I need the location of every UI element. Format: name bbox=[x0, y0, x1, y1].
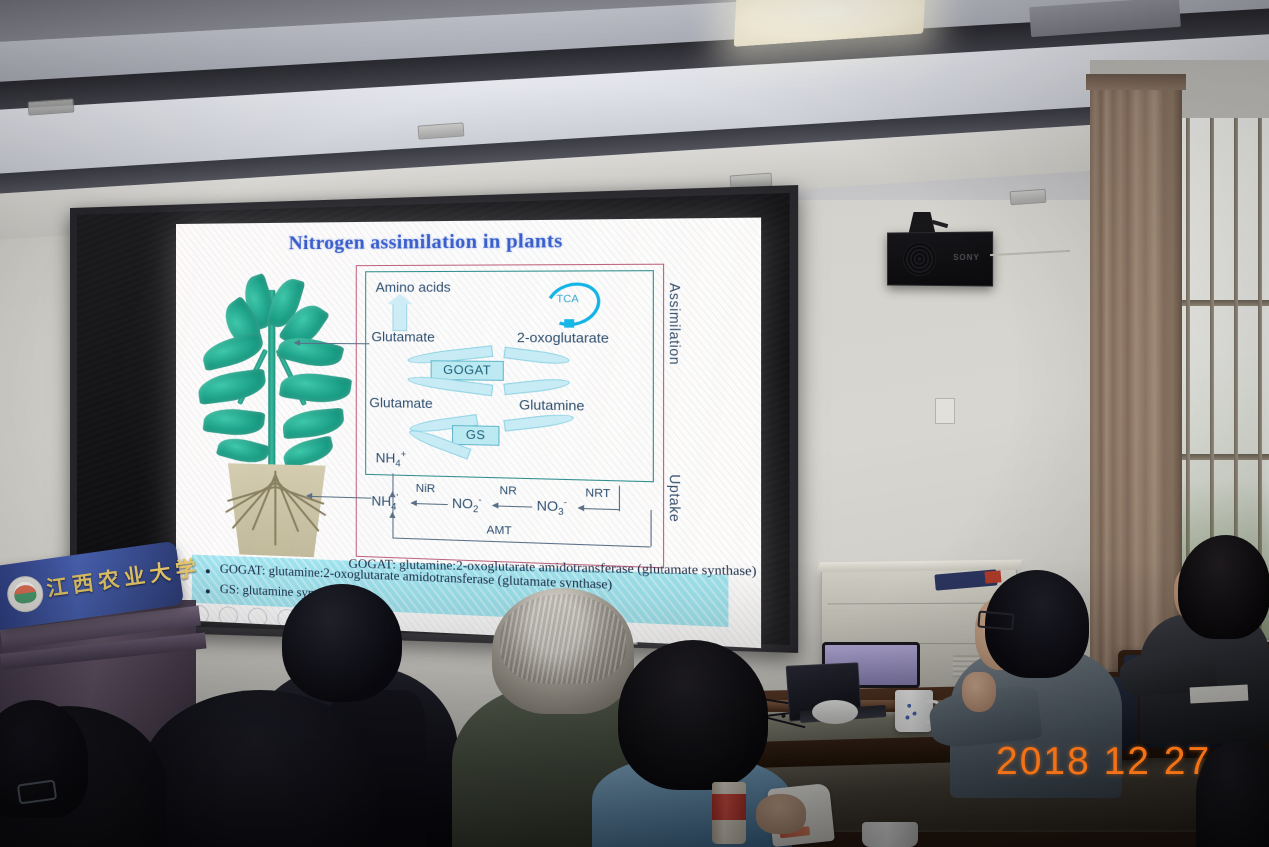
audience-grey-hair-head bbox=[492, 588, 634, 714]
attendee-grey-sweater-hand bbox=[962, 672, 996, 712]
speaker-cone-icon bbox=[903, 242, 936, 276]
projection-color-tint bbox=[176, 218, 761, 649]
podium-banner-text: 江西农业大学 bbox=[45, 552, 204, 603]
eyeglasses-icon bbox=[977, 610, 1014, 630]
audience-black-jacket-head bbox=[282, 584, 402, 702]
curtain-rod bbox=[1086, 74, 1186, 90]
attendee-puffer-jacket-head bbox=[1178, 535, 1269, 639]
slide-canvas: Nitrogen assimilation in plants bbox=[176, 218, 761, 649]
audience-blue-top-hand bbox=[756, 794, 806, 834]
projected-slide: Nitrogen assimilation in plants bbox=[176, 218, 761, 649]
laptop-stand bbox=[812, 700, 858, 724]
camera-date-stamp: 2018 12 27 bbox=[996, 740, 1211, 784]
cup-foreground bbox=[862, 822, 918, 847]
cup-band bbox=[712, 794, 746, 820]
hair-texture bbox=[500, 594, 626, 684]
curtain bbox=[1090, 78, 1182, 688]
paper-on-table bbox=[1190, 684, 1249, 703]
wall-outlet-plate bbox=[935, 398, 955, 424]
porcelain-mug bbox=[895, 690, 933, 732]
ceiling-vent-icon bbox=[1010, 189, 1047, 205]
wall-speaker: SONY bbox=[887, 231, 993, 286]
speaker-brand-label: SONY bbox=[953, 253, 980, 262]
audience-blue-top-head bbox=[618, 640, 768, 790]
university-emblem-icon bbox=[5, 574, 46, 615]
notebook-edge bbox=[985, 570, 1002, 583]
mug-pattern-icon bbox=[902, 698, 920, 724]
paper-cup bbox=[712, 782, 746, 844]
conference-room-photo: SONY Nitrogen assimilation in plants bbox=[0, 0, 1269, 847]
